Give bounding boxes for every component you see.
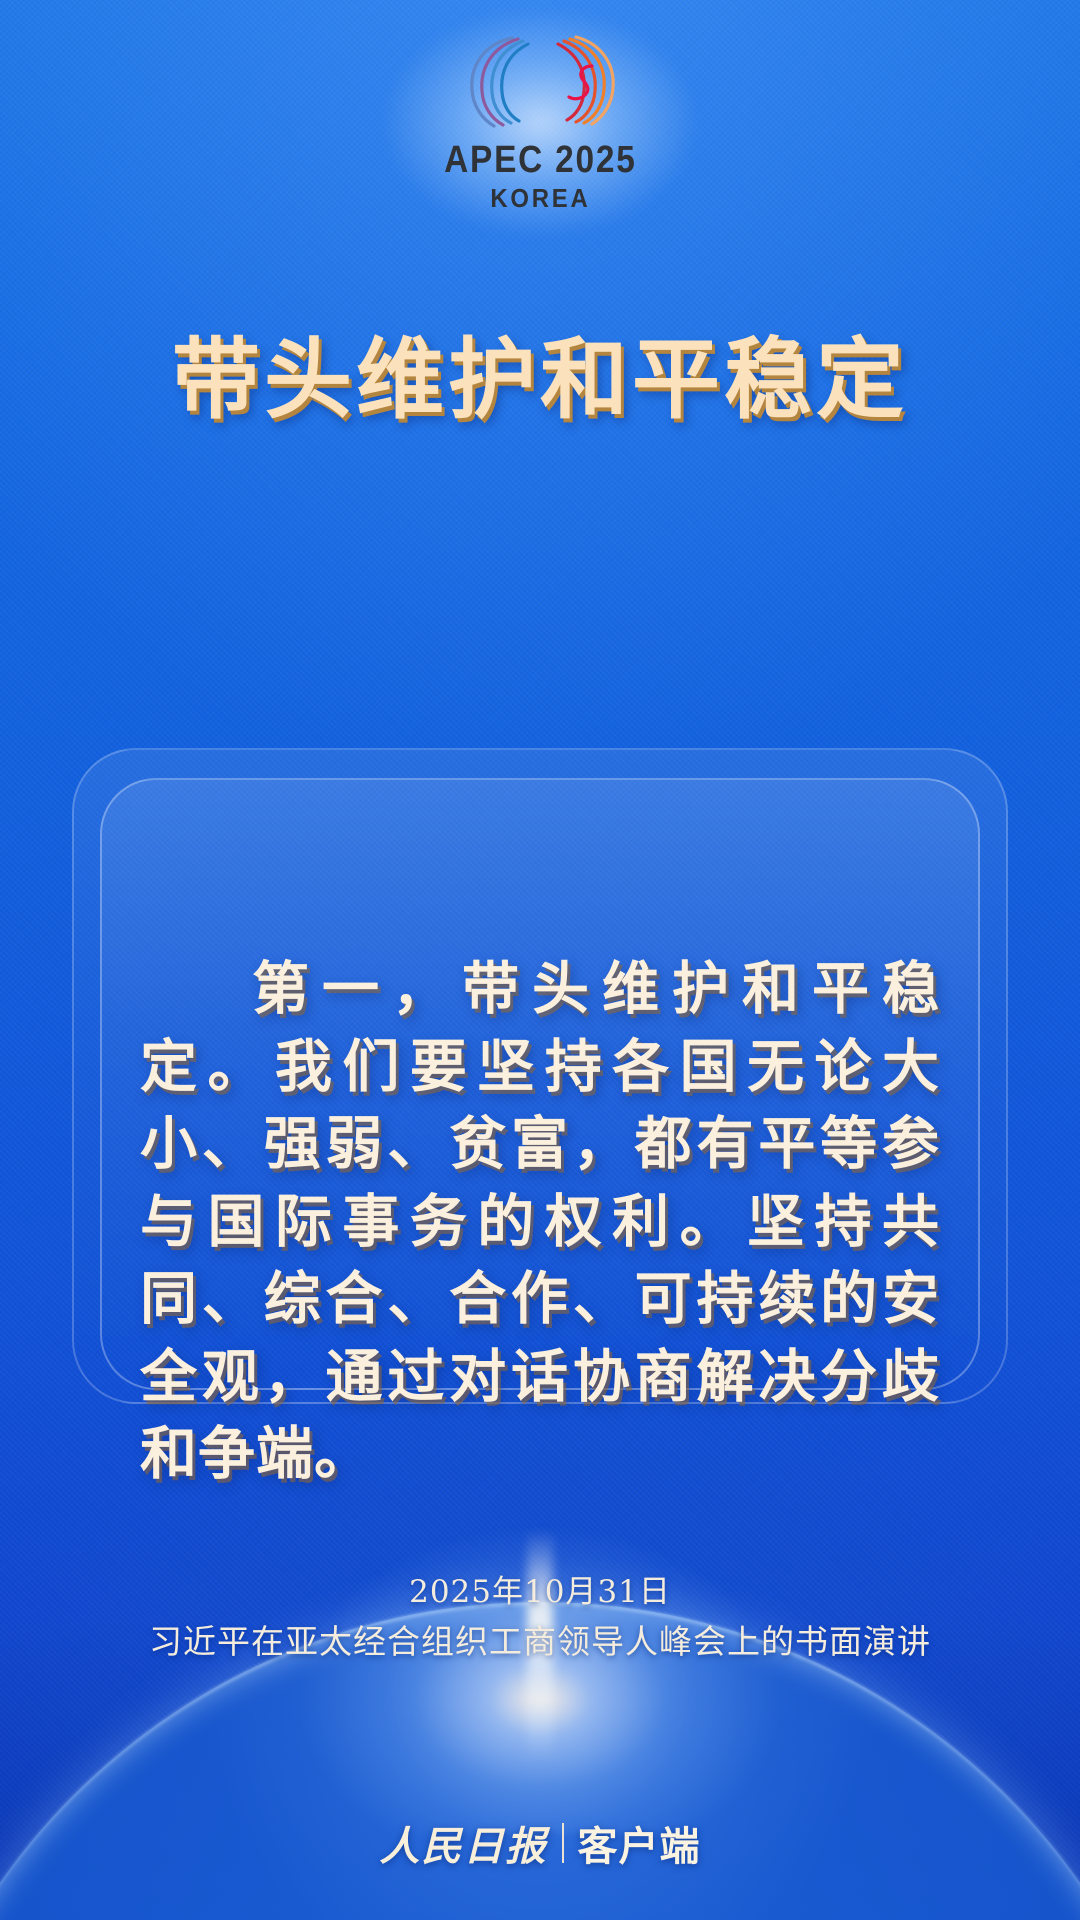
logo-subtitle: KOREA (490, 183, 590, 214)
attribution-source: 习近平在亚太经合组织工商领导人峰会上的书面演讲 (0, 1616, 1080, 1667)
logo-title: APEC 2025 (444, 139, 636, 182)
poster-canvas: APEC 2025 KOREA 带头维护和平稳定 第一，带头维护和平稳定。我们要… (0, 0, 1080, 1920)
page-title: 带头维护和平稳定 (0, 330, 1080, 429)
apec-korea-emblem-icon (440, 22, 640, 137)
apec-logo-block: APEC 2025 KOREA (0, 22, 1080, 214)
brand-divider (562, 1823, 564, 1863)
attribution-block: 2025年10月31日 习近平在亚太经合组织工商领导人峰会上的书面演讲 (0, 1568, 1080, 1667)
quote-body-text: 第一，带头维护和平稳定。我们要坚持各国无论大小、强弱、贫富，都有平等参与国际事务… (140, 950, 940, 1493)
footer-brand-lockup[interactable]: 人民日报 客户端 (0, 1814, 1080, 1872)
attribution-date: 2025年10月31日 (0, 1568, 1080, 1616)
brand-product-app: 客户端 (578, 1814, 701, 1872)
brand-name-peoples-daily: 人民日报 (380, 1814, 548, 1872)
